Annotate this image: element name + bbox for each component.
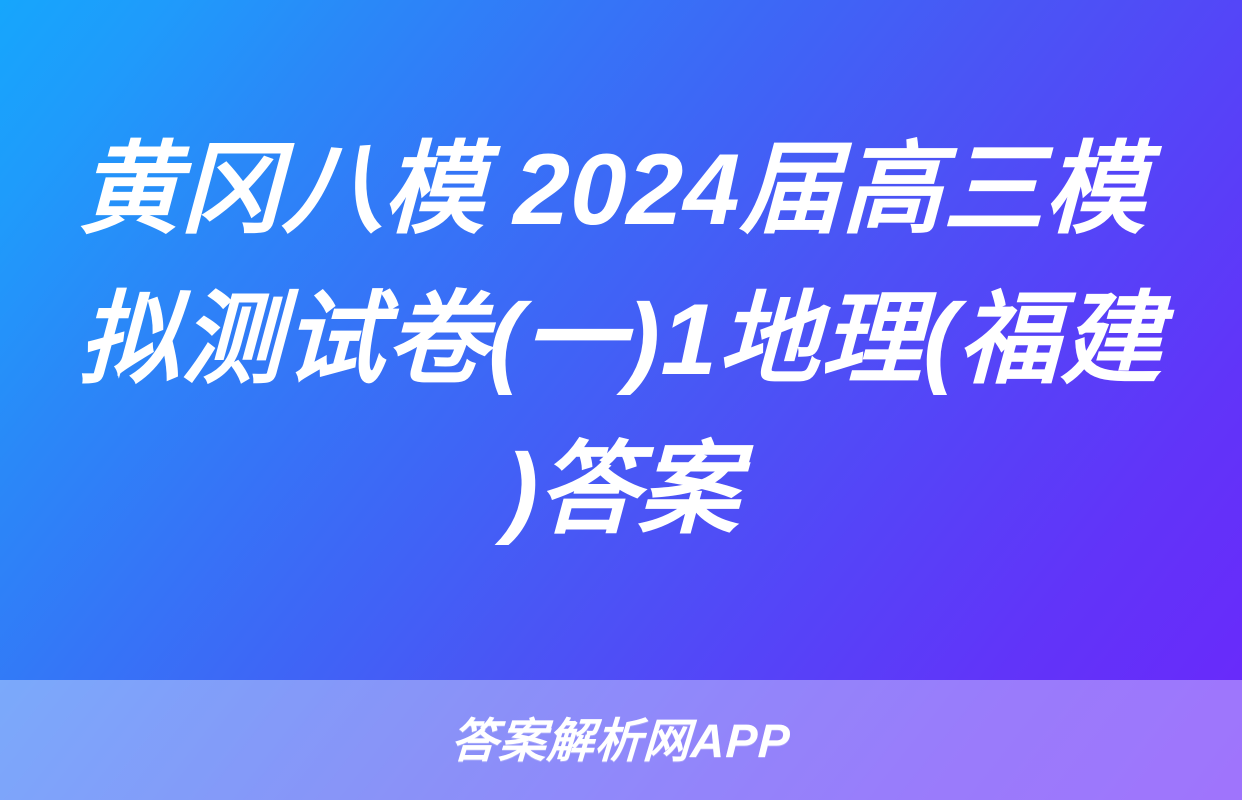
headline-line-2: 拟测试卷(一)1地理(福建 [77,265,1165,415]
brand-watermark-label: 答案解析网APP [450,717,792,764]
poster-canvas: 黄冈八模 2024届高三模 拟测试卷(一)1地理(福建 )答案 答案解析网APP [0,0,1242,800]
headline-block: 黄冈八模 2024届高三模 拟测试卷(一)1地理(福建 )答案 [0,0,1242,680]
headline-line-3: )答案 [77,415,1165,565]
watermark-band: 答案解析网APP [0,680,1242,800]
headline-line-1: 黄冈八模 2024届高三模 [77,115,1165,265]
